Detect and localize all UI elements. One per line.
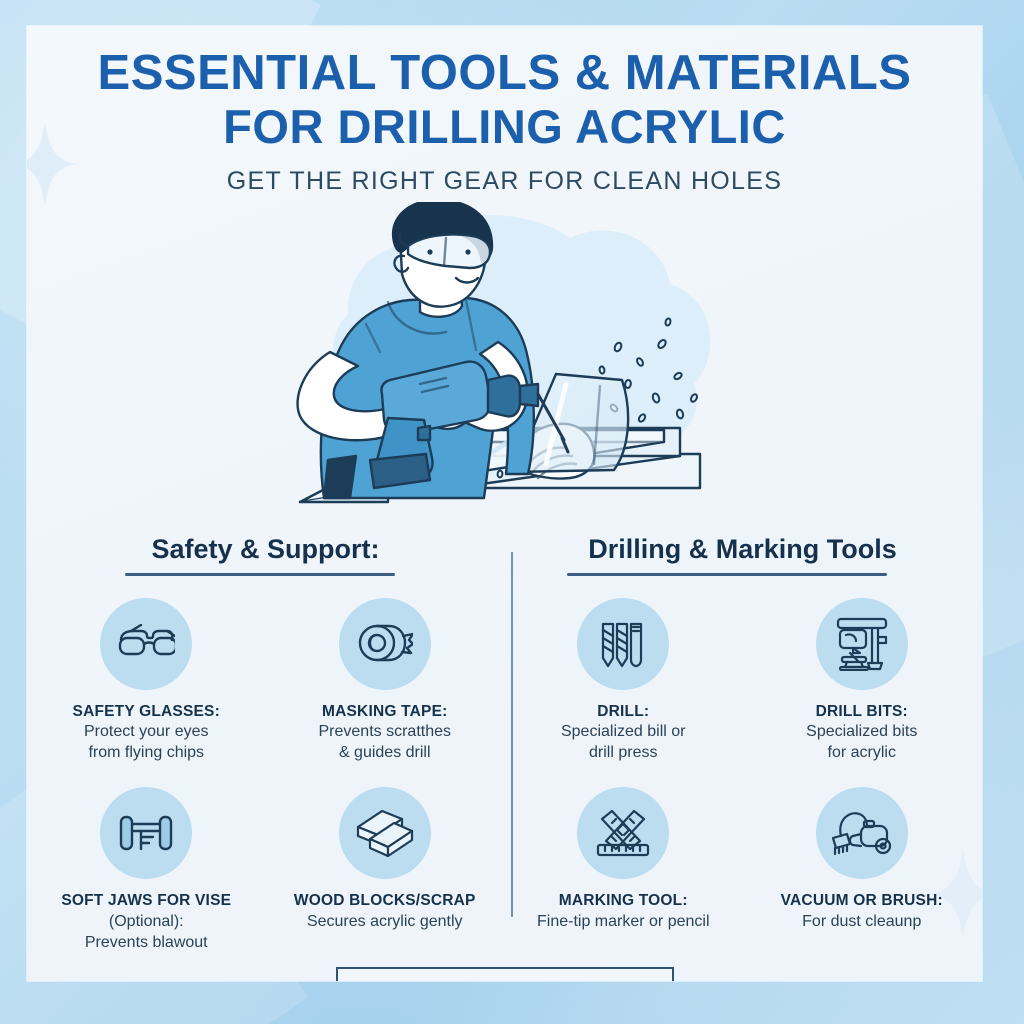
safety-support-grid: SAFETY GLASSES: Protect your eyes from f… bbox=[27, 598, 504, 954]
infographic-poster: ESSENTIAL TOOLS & MATERIALS FOR DRILLING… bbox=[0, 0, 1024, 1024]
tool-description: (Optional): Prevents blawout bbox=[33, 912, 260, 954]
drill-press-icon bbox=[834, 617, 890, 671]
tool-description: Prevents scratthes & guides drill bbox=[272, 722, 499, 764]
section-underline bbox=[125, 573, 395, 576]
column-safety-support: Safety & Support: bbox=[27, 534, 504, 954]
tool-title: DRILL BITS: bbox=[749, 702, 976, 721]
tool-item-drill[interactable]: DRILL: Specialized bill or drill press bbox=[504, 598, 743, 764]
tool-item-drill-bits[interactable]: DRILL BITS: Specialized bits for acrylic bbox=[743, 598, 982, 764]
column-drilling-marking-tools: Drilling & Marking Tools bbox=[504, 534, 981, 954]
tool-columns: Safety & Support: bbox=[27, 534, 982, 954]
drilling-marking-grid: DRILL: Specialized bill or drill press bbox=[504, 598, 981, 933]
tool-item-masking-tape[interactable]: MASKING TAPE: Prevents scratthes & guide… bbox=[266, 598, 505, 764]
drilling-acrylic-illustration bbox=[270, 202, 740, 532]
page-subtitle: GET THE RIGHT GEAR FOR CLEAN HOLES bbox=[27, 167, 982, 196]
page-title-line-1: ESSENTIAL TOOLS & MATERIALS bbox=[27, 46, 982, 101]
icon-badge bbox=[816, 787, 908, 879]
icon-badge bbox=[339, 787, 431, 879]
tool-description: Secures acrylic gently bbox=[272, 912, 499, 933]
hero-illustration bbox=[27, 202, 982, 532]
tool-item-safety-glasses[interactable]: SAFETY GLASSES: Protect your eyes from f… bbox=[27, 598, 266, 764]
tool-title: MARKING TOOL: bbox=[510, 891, 737, 910]
section-heading-safety-support: Safety & Support: bbox=[27, 534, 504, 565]
poster-card: ESSENTIAL TOOLS & MATERIALS FOR DRILLING… bbox=[27, 26, 982, 981]
tool-title: SOFT JAWS FOR VISE bbox=[33, 891, 260, 910]
masking-tape-icon bbox=[357, 622, 413, 666]
column-divider bbox=[511, 552, 513, 917]
tool-item-vacuum-or-brush[interactable]: VACUUM OR BRUSH: For dust cleaunp bbox=[743, 787, 982, 932]
page-title-line-2: FOR DRILLING ACRYLIC bbox=[27, 101, 982, 154]
vacuum-brush-icon bbox=[831, 808, 893, 858]
tool-description: For dust cleaunp bbox=[749, 912, 976, 933]
tool-item-marking-tool[interactable]: MARKING TOOL: Fine-tip marker or pencil bbox=[504, 787, 743, 932]
tool-item-wood-blocks[interactable]: WOOD BLOCKS/SCRAP Secures acrylic gently bbox=[266, 787, 505, 953]
footer: Be well-prepared to drill clean holes sa… bbox=[27, 967, 982, 981]
section-heading-drilling-marking-tools: Drilling & Marking Tools bbox=[504, 534, 981, 565]
icon-badge bbox=[816, 598, 908, 690]
tool-description: Fine-tip marker or pencil bbox=[510, 912, 737, 933]
icon-badge bbox=[100, 598, 192, 690]
tool-title: MASKING TAPE: bbox=[272, 702, 499, 721]
poster-header: ESSENTIAL TOOLS & MATERIALS FOR DRILLING… bbox=[27, 26, 982, 196]
tool-title: SAFETY GLASSES: bbox=[33, 702, 260, 721]
footer-callout-box: Be well-prepared to drill clean holes sa… bbox=[336, 967, 674, 981]
icon-badge bbox=[100, 787, 192, 879]
wood-blocks-icon bbox=[356, 809, 414, 857]
tool-title: WOOD BLOCKS/SCRAP bbox=[272, 891, 499, 910]
tool-item-soft-jaws-for-vise[interactable]: SOFT JAWS FOR VISE (Optional): Prevents … bbox=[27, 787, 266, 953]
icon-badge bbox=[577, 598, 669, 690]
tool-title: VACUUM OR BRUSH: bbox=[749, 891, 976, 910]
vise-soft-jaws-icon bbox=[119, 809, 173, 857]
footer-line-1: Be well-prepared to drill clean holes bbox=[360, 978, 650, 981]
section-underline bbox=[567, 573, 887, 576]
tool-description: Protect your eyes from flying chips bbox=[33, 722, 260, 764]
drill-bits-trio-icon bbox=[599, 618, 647, 670]
crossed-rulers-icon bbox=[594, 807, 652, 859]
tool-title: DRILL: bbox=[510, 702, 737, 721]
safety-glasses-icon bbox=[117, 624, 175, 664]
icon-badge bbox=[577, 787, 669, 879]
icon-badge bbox=[339, 598, 431, 690]
tool-description: Specialized bits for acrylic bbox=[749, 722, 976, 764]
tool-description: Specialized bill or drill press bbox=[510, 722, 737, 764]
